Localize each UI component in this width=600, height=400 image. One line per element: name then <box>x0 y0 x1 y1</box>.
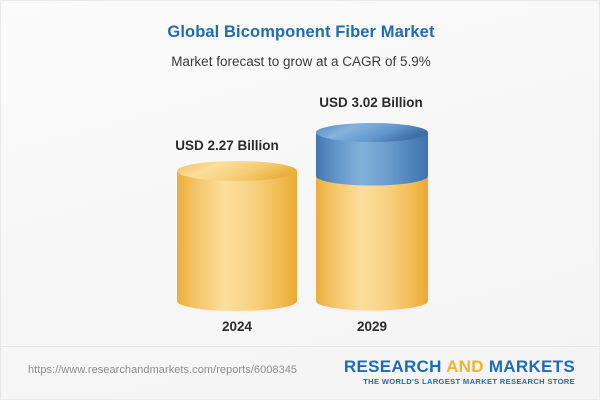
bar-cylinder-2024 <box>177 161 297 311</box>
brand-logo-wordmark: RESEARCH AND MARKETS <box>344 358 575 375</box>
brand-logo-research: RESEARCH <box>344 357 446 376</box>
brand-logo-markets: MARKETS <box>484 357 575 376</box>
bar-value-label-2029: USD 3.02 Billion <box>261 95 481 110</box>
brand-tagline: THE WORLD'S LARGEST MARKET RESEARCH STOR… <box>344 378 575 386</box>
bar-category-label-2029: 2029 <box>262 319 482 334</box>
bar-cylinder-2029 <box>316 123 428 311</box>
bar-value-label-2024: USD 2.27 Billion <box>117 138 337 153</box>
chart-plot-area: USD 2.27 Billion <box>1 1 600 346</box>
infographic-card: Global Bicomponent Fiber Market Market f… <box>0 0 600 400</box>
brand-logo-and: AND <box>446 357 484 376</box>
report-url[interactable]: https://www.researchandmarkets.com/repor… <box>28 364 297 376</box>
footer-divider <box>1 346 600 347</box>
brand-logo: RESEARCH AND MARKETS THE WORLD'S LARGEST… <box>344 358 575 386</box>
